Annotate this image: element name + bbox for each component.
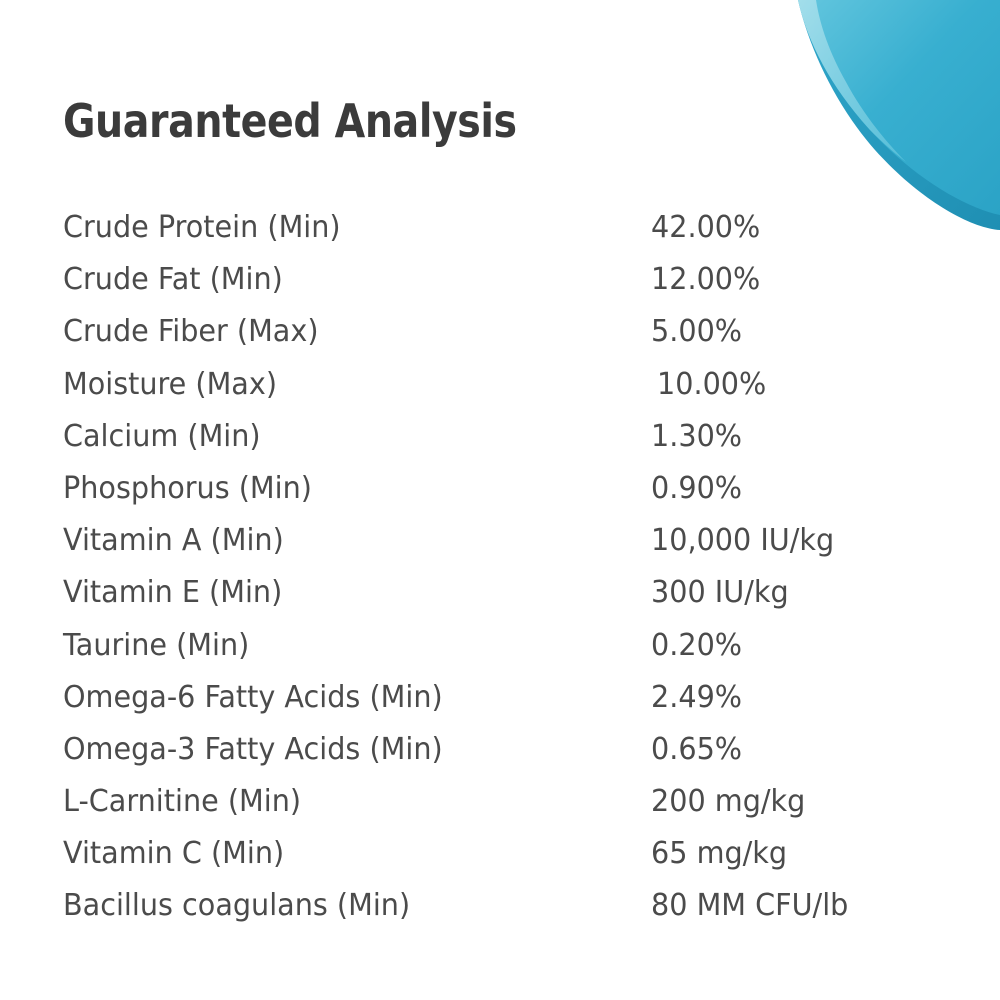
nutrient-value: 1.30% — [651, 417, 742, 457]
nutrient-value: 80 MM CFU/lb — [651, 886, 848, 926]
nutrient-value: 5.00% — [651, 312, 742, 352]
table-row: Phosphorus (Min) 0.90% — [63, 469, 963, 521]
swoosh-main-layer — [798, 0, 1000, 215]
nutrient-value: 0.90% — [651, 469, 742, 509]
nutrient-label: Vitamin A (Min) — [63, 521, 284, 561]
table-row: Taurine (Min) 0.20% — [63, 626, 963, 678]
nutrient-value: 200 mg/kg — [651, 782, 805, 822]
nutrient-label: Crude Protein (Min) — [63, 208, 341, 248]
nutrient-label: Vitamin E (Min) — [63, 573, 282, 613]
nutrient-value: 2.49% — [651, 678, 742, 718]
swoosh-highlight-layer — [798, 0, 906, 162]
nutrient-value: 0.20% — [651, 626, 742, 666]
table-row: Vitamin A (Min) 10,000 IU/kg — [63, 521, 963, 573]
nutrient-label: Phosphorus (Min) — [63, 469, 312, 509]
nutrient-value: 65 mg/kg — [651, 834, 787, 874]
table-row: L-Carnitine (Min) 200 mg/kg — [63, 782, 963, 834]
swoosh-shadow-layer — [798, 0, 1000, 230]
nutrient-label: Taurine (Min) — [63, 626, 249, 666]
page-title: Guaranteed Analysis — [63, 96, 517, 146]
nutrient-value: 300 IU/kg — [651, 573, 789, 613]
nutrient-value: 42.00% — [651, 208, 760, 248]
nutrient-value: 10.00% — [657, 365, 766, 405]
table-row: Vitamin E (Min) 300 IU/kg — [63, 573, 963, 625]
nutrient-label: Omega-3 Fatty Acids (Min) — [63, 730, 443, 770]
nutrient-label: Crude Fat (Min) — [63, 260, 283, 300]
nutrient-value: 12.00% — [651, 260, 760, 300]
nutrient-value: 10,000 IU/kg — [651, 521, 834, 561]
guaranteed-analysis-panel: Guaranteed Analysis Crude Protein (Min) … — [0, 0, 1000, 1000]
guaranteed-analysis-table: Crude Protein (Min) 42.00% Crude Fat (Mi… — [63, 208, 963, 939]
table-row: Calcium (Min) 1.30% — [63, 417, 963, 469]
nutrient-label: Calcium (Min) — [63, 417, 261, 457]
table-row: Bacillus coagulans (Min) 80 MM CFU/lb — [63, 886, 963, 938]
table-row: Vitamin C (Min) 65 mg/kg — [63, 834, 963, 886]
nutrient-label: Moisture (Max) — [63, 365, 277, 405]
table-row: Crude Fiber (Max) 5.00% — [63, 312, 963, 364]
nutrient-label: Crude Fiber (Max) — [63, 312, 319, 352]
nutrient-value: 0.65% — [651, 730, 742, 770]
nutrient-label: Omega-6 Fatty Acids (Min) — [63, 678, 443, 718]
table-row: Omega-6 Fatty Acids (Min) 2.49% — [63, 678, 963, 730]
nutrient-label: L-Carnitine (Min) — [63, 782, 301, 822]
table-row: Crude Protein (Min) 42.00% — [63, 208, 963, 260]
nutrient-label: Bacillus coagulans (Min) — [63, 886, 410, 926]
table-row: Moisture (Max) 10.00% — [63, 365, 963, 417]
table-row: Crude Fat (Min) 12.00% — [63, 260, 963, 312]
table-row: Omega-3 Fatty Acids (Min) 0.65% — [63, 730, 963, 782]
nutrient-label: Vitamin C (Min) — [63, 834, 284, 874]
